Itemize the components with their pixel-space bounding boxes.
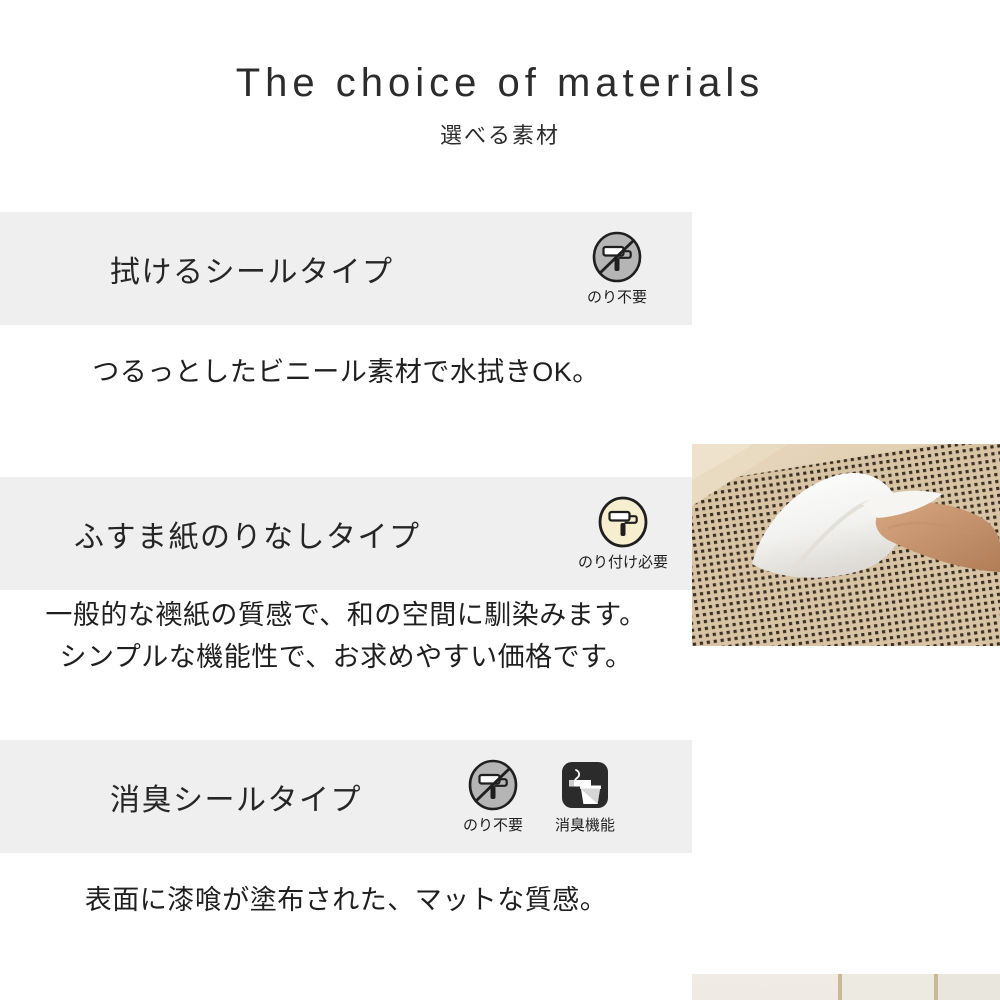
material-section-wipeable: 拭けるシールタイプ のり不要 つるっと [0,212,1000,437]
badge-label: 消臭機能 [555,814,615,835]
badge-no-glue: のり不要 [578,231,656,307]
page-title: The choice of materials [236,60,765,106]
section-title-band: 拭けるシールタイプ のり不要 [0,212,692,325]
badge-group: のり付け必要 [584,496,662,572]
page-subtitle: 選べる素材 [440,118,560,150]
glue-required-roller-icon [597,496,649,548]
section-body: つるっとしたビニール素材で水拭きOK。 [0,352,692,394]
badge-label: のり不要 [587,286,647,307]
section-body: 表面に漆喰が塗布された、マットな質感。 [0,880,692,922]
materials-page: The choice of materials 選べる素材 拭けるシールタイプ [0,0,1000,1000]
badge-deodorizing: 消臭機能 [546,759,624,835]
section-body: 一般的な襖紙の質感で、和の空間に馴染みます。 シンプルな機能性で、お求めやすい価… [0,595,692,679]
body-line: 一般的な襖紙の質感で、和の空間に馴染みます。 [0,595,692,637]
section-title: 拭けるシールタイプ [110,247,394,291]
badge-label: のり付け必要 [578,551,668,572]
japanese-room-fusuma-photo [692,974,1000,1000]
badge-group: のり不要 [578,231,656,307]
deodorizing-function-icon [559,759,611,811]
body-line: 表面に漆喰が塗布された、マットな質感。 [0,880,692,922]
badge-group: のり不要 消臭機能 [454,759,624,835]
section-title: ふすま紙のりなしタイプ [74,512,421,556]
badge-glue-required: のり付け必要 [584,496,662,572]
no-glue-roller-icon [591,231,643,283]
no-glue-roller-icon [467,759,519,811]
material-section-deodorizing: 消臭シールタイプ のり不要 [0,740,1000,965]
body-line: つるっとしたビニール素材で水拭きOK。 [0,352,692,394]
body-line: シンプルな機能性で、お求めやすい価格です。 [0,637,692,679]
material-section-fusuma-no-glue: ふすま紙のりなしタイプ のり付け必要 一般的な襖紙の質感で、和の空間 [0,477,1000,697]
page-header: The choice of materials 選べる素材 [0,0,1000,205]
section-title-band: 消臭シールタイプ のり不要 [0,740,692,853]
section-title-band: ふすま紙のりなしタイプ のり付け必要 [0,477,692,590]
badge-label: のり不要 [463,814,523,835]
badge-no-glue: のり不要 [454,759,532,835]
section-title: 消臭シールタイプ [110,775,362,819]
